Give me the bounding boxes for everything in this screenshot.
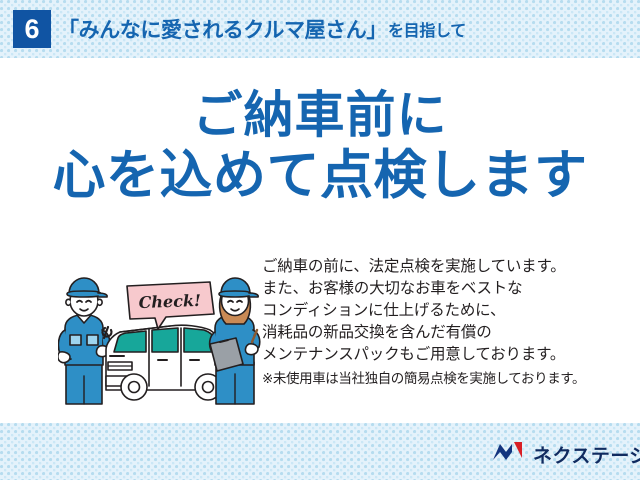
check-bubble-label: Check! — [138, 291, 201, 312]
header-title: 「みんなに愛されるクルマ屋さん」 を目指して — [58, 13, 466, 45]
headline-line-2: 心を込めて点検します — [0, 145, 640, 208]
brand-logo: ネクステージ — [492, 440, 640, 468]
section-number-badge: 6 — [13, 10, 51, 48]
brand-wordmark: ネクステージ — [533, 441, 640, 468]
body-line-1: ご納車の前に、法定点検を実施しています。 — [262, 256, 622, 278]
body-line-4: 消耗品の新品交換を含んだ有償の — [262, 322, 622, 344]
header-title-quoted: 「みんなに愛されるクルマ屋さん」 — [58, 14, 387, 44]
body-line-2: また、お客様の大切なお車をベストな — [262, 278, 622, 300]
promo-panel: 6 「みんなに愛されるクルマ屋さん」 を目指して ご納車前に 心を込めて点検しま… — [0, 0, 640, 480]
male-mechanic-figure — [58, 278, 111, 404]
body-line-5: メンテナンスパックもご用意しております。 — [262, 344, 622, 366]
female-mechanic-figure — [210, 278, 260, 404]
van-illustration — [106, 325, 226, 400]
headline-line-1: ご納車前に — [0, 86, 640, 145]
header-title-suffix: を目指して — [387, 17, 466, 41]
body-copy: ご納車の前に、法定点検を実施しています。 また、お客様の大切なお車をベストな コ… — [262, 256, 622, 390]
mechanics-illustration: Check! — [58, 266, 263, 408]
body-line-3: コンディションに仕上げるために、 — [262, 300, 622, 322]
page-headline: ご納車前に 心を込めて点検します — [0, 86, 640, 208]
body-footnote: ※未使用車は当社独自の簡易点検を実施しております。 — [262, 366, 622, 390]
nextage-n-mark-icon — [492, 441, 526, 468]
